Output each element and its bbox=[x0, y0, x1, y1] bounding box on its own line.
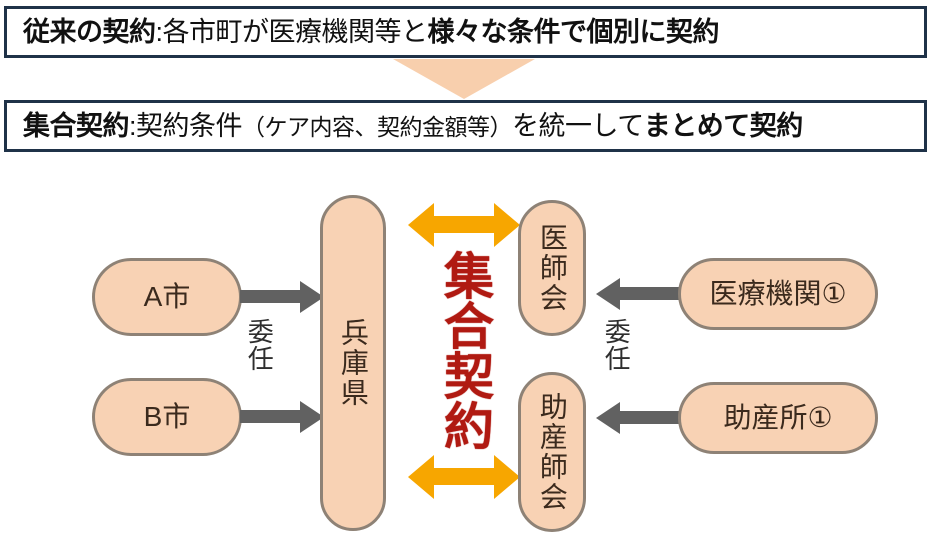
double-arrow-top-icon bbox=[408, 203, 520, 247]
banner1-emphasis: 様々な条件で個別に契約 bbox=[428, 17, 720, 47]
arrow-shaft bbox=[430, 468, 498, 485]
box-midwifery-center-1: 助産所① bbox=[678, 382, 878, 454]
diagram-canvas: 従来の契約:各市町が医療機関等と様々な条件で個別に契約 集合契約:契約条件（ケア… bbox=[0, 0, 931, 540]
banner-conventional-contract: 従来の契約:各市町が医療機関等と様々な条件で個別に契約 bbox=[4, 6, 927, 58]
arrow-shaft bbox=[620, 287, 682, 300]
banner2-separator: : bbox=[129, 111, 136, 141]
label-collective-contract: 集合契約 bbox=[420, 246, 510, 454]
arrow-shaft bbox=[240, 290, 302, 303]
banner1-separator: : bbox=[156, 17, 163, 47]
arrow-b-city-to-hyogo bbox=[240, 401, 324, 433]
arrow-a-city-to-hyogo bbox=[240, 281, 324, 313]
banner2-body2: を統一して bbox=[512, 111, 644, 141]
box-a-city: A市 bbox=[92, 258, 242, 336]
banner2-label: 集合契約 bbox=[23, 111, 129, 141]
label-entrust-left: 委任 bbox=[245, 318, 272, 372]
box-b-city: B市 bbox=[92, 378, 242, 456]
arrow-shaft bbox=[240, 410, 302, 423]
label-entrust-right: 委任 bbox=[602, 318, 629, 372]
arrow-midwifery-center-to-association bbox=[596, 402, 682, 434]
banner1-label: 従来の契約 bbox=[23, 17, 156, 47]
arrow-head-left-icon bbox=[596, 278, 620, 310]
banner2-body: 契約条件 bbox=[136, 111, 242, 141]
double-arrow-bottom-icon bbox=[408, 455, 520, 499]
box-midwives-association: 助産師会 bbox=[518, 372, 586, 532]
box-hyogo-prefecture: 兵庫県 bbox=[320, 195, 386, 531]
banner2-paren: （ケア内容、契約金額等） bbox=[242, 114, 512, 140]
down-arrow-icon bbox=[393, 59, 535, 99]
arrow-head-right-icon bbox=[494, 455, 520, 499]
arrow-medical-institution-to-association bbox=[596, 278, 682, 310]
banner-collective-contract: 集合契約:契約条件（ケア内容、契約金額等）を統一してまとめて契約 bbox=[4, 100, 927, 152]
box-medical-institution-1: 医療機関① bbox=[678, 258, 878, 330]
arrow-shaft bbox=[620, 411, 682, 424]
arrow-head-left-icon bbox=[596, 402, 620, 434]
arrow-shaft bbox=[430, 216, 498, 233]
arrow-head-right-icon bbox=[494, 203, 520, 247]
banner1-body: 各市町が医療機関等と bbox=[163, 17, 428, 47]
box-medical-association: 医師会 bbox=[518, 200, 586, 336]
banner2-emphasis: まとめて契約 bbox=[644, 111, 803, 141]
